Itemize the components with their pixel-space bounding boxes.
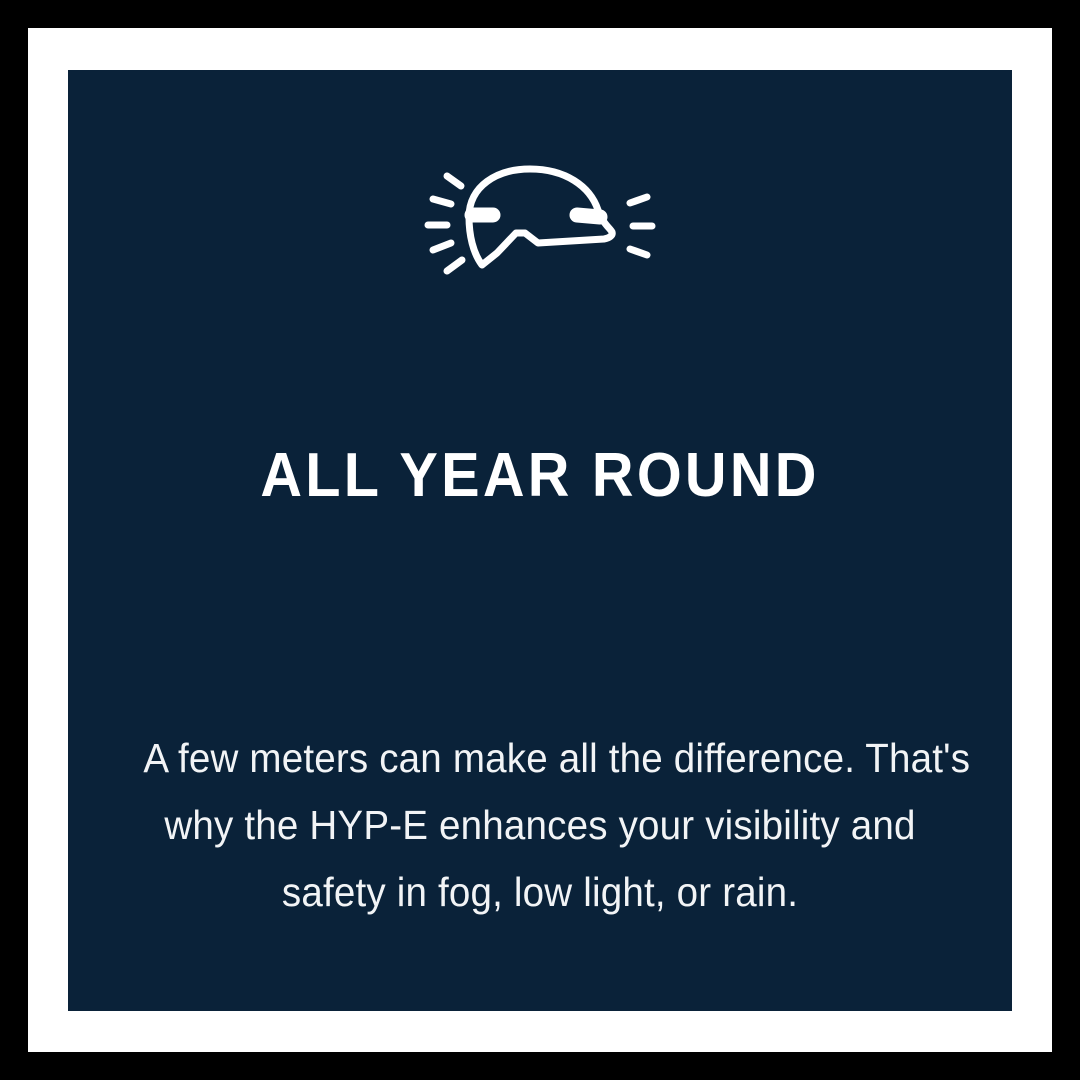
body-copy: A few meters can make all the difference… <box>118 725 962 926</box>
content-panel: ALL YEAR ROUND A few meters can make all… <box>68 70 1012 1011</box>
promo-card: ALL YEAR ROUND A few meters can make all… <box>0 0 1080 1080</box>
body-line-3: safety in fog, low light, or rain. <box>143 859 936 926</box>
page-title: ALL YEAR ROUND <box>101 442 979 510</box>
body-line-1: A few meters can make all the difference… <box>143 725 936 792</box>
body-line-2: why the HYP-E enhances your visibility a… <box>143 792 936 859</box>
helmet-with-light-rays-icon <box>68 155 1012 280</box>
